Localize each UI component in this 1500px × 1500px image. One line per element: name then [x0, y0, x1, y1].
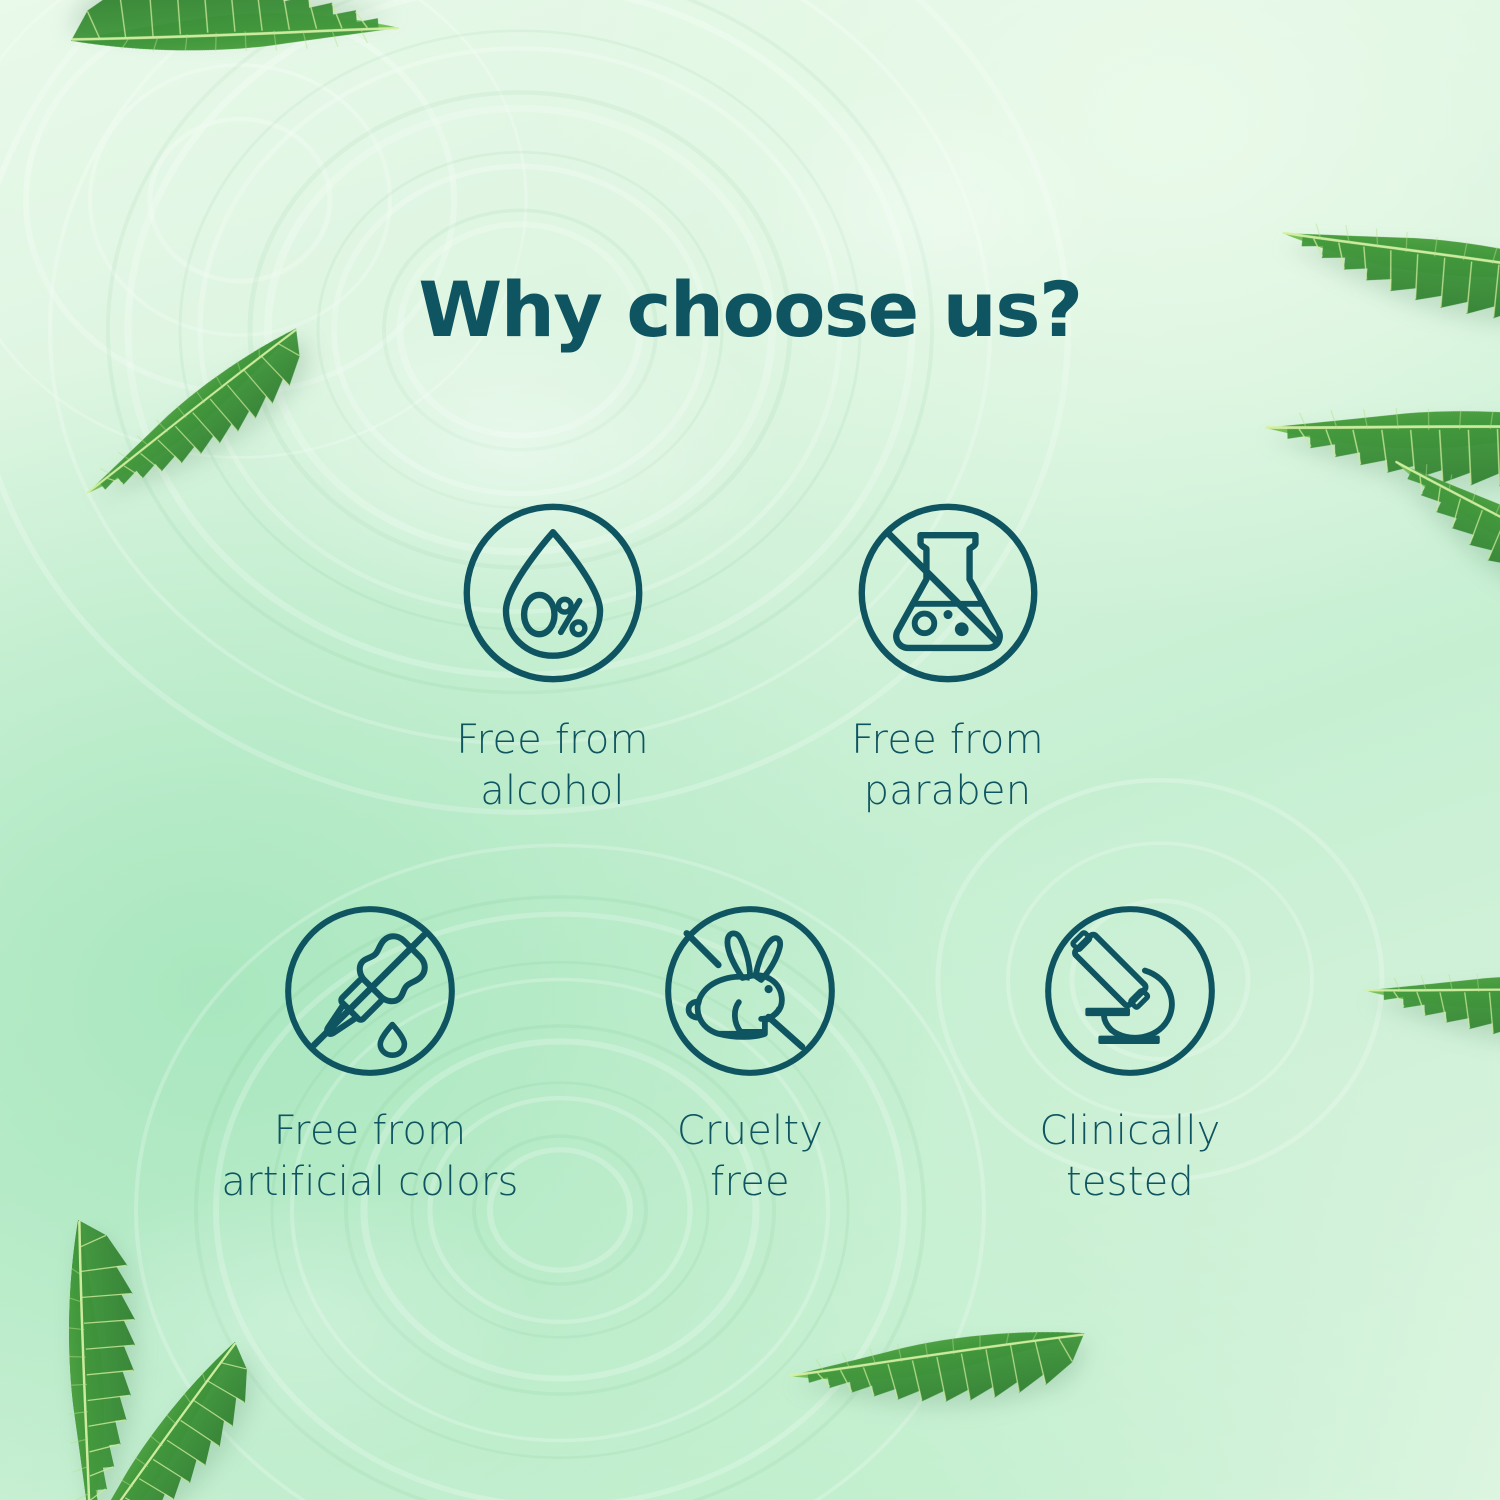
- feature-label: Free from alcohol: [456, 715, 648, 817]
- why-choose-us-infographic: Why choose us? Free from alcohol: [0, 0, 1500, 1500]
- droplet-zero-percent-icon: [455, 495, 651, 691]
- feature-free-from-paraben: Free from paraben: [750, 495, 1145, 817]
- feature-free-from-alcohol: Free from alcohol: [355, 495, 750, 817]
- no-rabbit-icon: [657, 898, 843, 1084]
- microscope-icon: [1037, 898, 1223, 1084]
- feature-free-from-artificial-colors: Free from artificial colors: [180, 898, 560, 1208]
- feature-cruelty-free: Cruelty free: [560, 898, 940, 1208]
- no-flask-icon: [850, 495, 1046, 691]
- no-dropper-icon: [277, 898, 463, 1084]
- feature-label: Free from paraben: [851, 715, 1043, 817]
- features-row-bottom: Free from artificial colors: [0, 898, 1500, 1208]
- page-title: Why choose us?: [0, 272, 1500, 348]
- feature-label: Free from artificial colors: [221, 1106, 518, 1208]
- features-row-top: Free from alcohol Free from paraben: [0, 495, 1500, 817]
- feature-label: Cruelty free: [677, 1106, 823, 1208]
- feature-label: Clinically tested: [1039, 1106, 1220, 1208]
- feature-clinically-tested: Clinically tested: [940, 898, 1320, 1208]
